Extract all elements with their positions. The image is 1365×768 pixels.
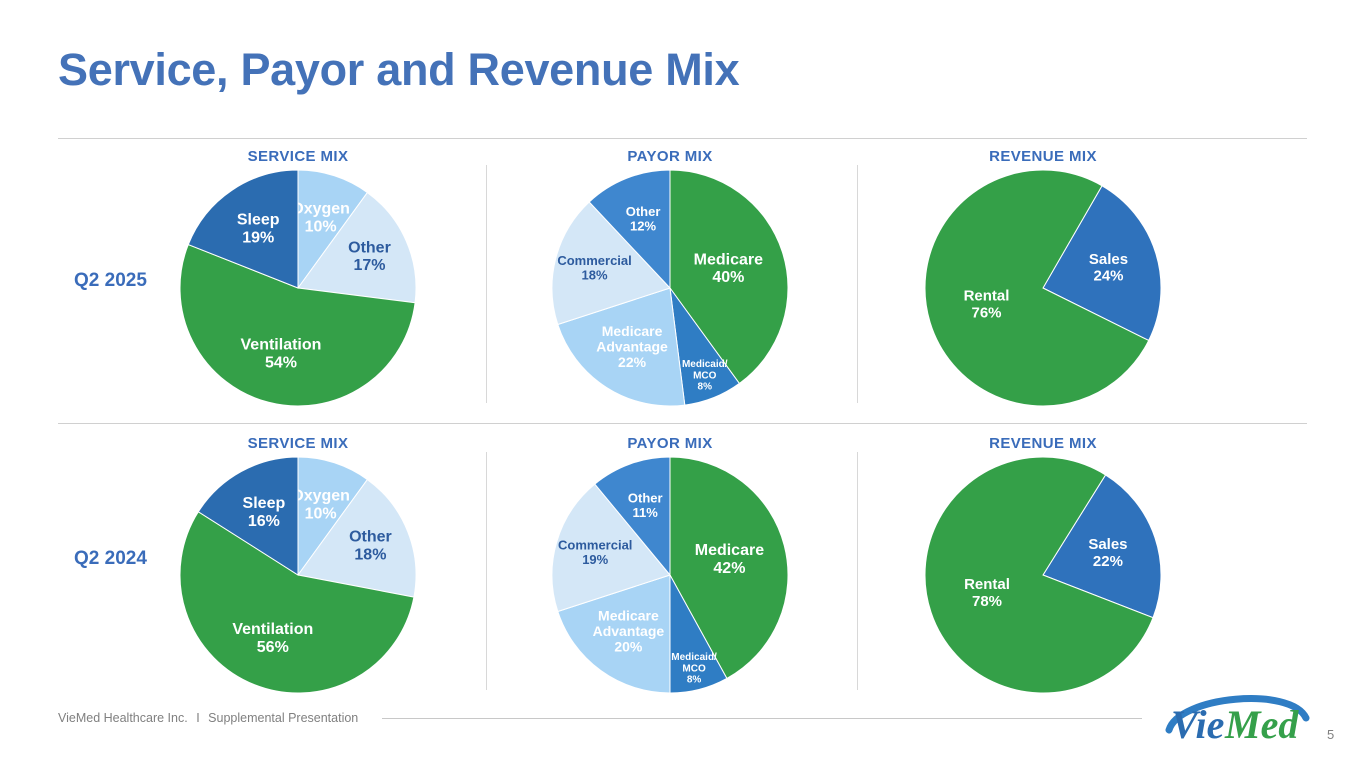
pie-chart-service-mix-q2-2024: Oxygen10%Other18%Ventilation56%Sleep16% [180, 457, 416, 693]
svg-text:Med: Med [1224, 702, 1299, 746]
column-divider-2 [486, 452, 487, 690]
svg-text:19%: 19% [582, 552, 608, 567]
pie-wrap-revenue-mix-q2-2025: Sales24%Rental76% [925, 170, 1161, 406]
svg-text:MCO: MCO [693, 370, 717, 381]
pie-label-sleep: Sleep19% [237, 212, 280, 247]
row-label-q2-2025: Q2 2025 [74, 270, 147, 292]
svg-text:10%: 10% [305, 219, 337, 236]
svg-text:Commercial: Commercial [557, 253, 631, 268]
svg-text:Rental: Rental [964, 576, 1010, 593]
page-title: Service, Payor and Revenue Mix [58, 44, 739, 96]
pie-label-other: Other17% [348, 239, 391, 274]
pie-wrap-service-mix-q2-2025: Oxygen10%Other17%Ventilation54%Sleep19% [180, 170, 416, 406]
svg-text:Medicare: Medicare [694, 251, 763, 268]
svg-text:Ventilation: Ventilation [232, 621, 313, 638]
divider-top [58, 138, 1307, 139]
pie-wrap-payor-mix-q2-2025: Medicare40%Medicaid/MCO8%MedicareAdvanta… [552, 170, 788, 406]
footer-separator: I [196, 711, 199, 725]
chart-title-revenue-mix-q2-2025: REVENUE MIX [913, 148, 1173, 165]
svg-text:22%: 22% [1093, 553, 1123, 570]
svg-text:8%: 8% [698, 382, 713, 393]
svg-text:40%: 40% [712, 269, 744, 286]
chart-title-service-mix-q2-2024: SERVICE MIX [168, 435, 428, 452]
svg-text:Other: Other [626, 204, 661, 219]
pie-label-other: Other18% [349, 529, 392, 564]
svg-text:Other: Other [349, 529, 392, 546]
pie-label-sales: Sales22% [1088, 536, 1127, 570]
pie-chart-revenue-mix-q2-2024: Sales22%Rental78% [925, 457, 1161, 693]
pie-label-other: Other11% [628, 490, 663, 520]
svg-text:Medicare: Medicare [598, 607, 659, 623]
svg-text:Advantage: Advantage [596, 338, 668, 354]
svg-text:8%: 8% [687, 675, 702, 686]
svg-text:Vie: Vie [1171, 702, 1224, 746]
svg-text:76%: 76% [972, 304, 1002, 321]
svg-text:Medicare: Medicare [602, 323, 663, 339]
svg-text:Advantage: Advantage [593, 623, 665, 639]
svg-text:42%: 42% [713, 560, 745, 577]
svg-text:19%: 19% [242, 230, 274, 247]
svg-text:Medicaid/: Medicaid/ [671, 652, 717, 663]
svg-text:Sleep: Sleep [243, 495, 286, 512]
svg-text:Sleep: Sleep [237, 212, 280, 229]
svg-text:Medicaid/: Medicaid/ [682, 359, 728, 370]
svg-text:78%: 78% [972, 593, 1002, 610]
svg-text:Sales: Sales [1088, 536, 1127, 553]
pie-label-sleep: Sleep16% [243, 495, 286, 530]
svg-text:Ventilation: Ventilation [241, 337, 322, 354]
footer: VieMed Healthcare Inc. I Supplemental Pr… [58, 711, 358, 725]
svg-text:56%: 56% [257, 639, 289, 656]
pie-chart-revenue-mix-q2-2025: Sales24%Rental76% [925, 170, 1161, 406]
svg-text:17%: 17% [353, 257, 385, 274]
pie-wrap-service-mix-q2-2024: Oxygen10%Other18%Ventilation56%Sleep16% [180, 457, 416, 693]
svg-text:54%: 54% [265, 354, 297, 371]
row-label-q2-2024: Q2 2024 [74, 548, 147, 570]
column-divider-0 [486, 165, 487, 403]
svg-text:Other: Other [348, 239, 391, 256]
svg-text:11%: 11% [633, 505, 659, 520]
pie-chart-service-mix-q2-2025: Oxygen10%Other17%Ventilation54%Sleep19% [180, 170, 416, 406]
pie-chart-payor-mix-q2-2024: Medicare42%Medicaid/MCO8%MedicareAdvanta… [552, 457, 788, 693]
svg-text:Oxygen: Oxygen [291, 201, 350, 218]
chart-cell-payor-mix-q2-2024: PAYOR MIXMedicare42%Medicaid/MCO8%Medica… [540, 435, 800, 697]
pie-chart-payor-mix-q2-2025: Medicare40%Medicaid/MCO8%MedicareAdvanta… [552, 170, 788, 406]
svg-text:Sales: Sales [1089, 251, 1128, 268]
column-divider-3 [857, 452, 858, 690]
svg-text:16%: 16% [248, 513, 280, 530]
svg-text:22%: 22% [618, 354, 647, 370]
chart-cell-service-mix-q2-2025: SERVICE MIXOxygen10%Other17%Ventilation5… [168, 148, 428, 410]
column-divider-1 [857, 165, 858, 403]
svg-text:Medicare: Medicare [695, 542, 764, 559]
divider-footer [382, 718, 1142, 719]
divider-middle [58, 423, 1307, 424]
viemed-logo: Vie Med [1163, 688, 1311, 746]
chart-cell-service-mix-q2-2024: SERVICE MIXOxygen10%Other18%Ventilation5… [168, 435, 428, 697]
svg-text:Oxygen: Oxygen [291, 488, 350, 505]
svg-text:Other: Other [628, 490, 663, 505]
pie-label-other: Other12% [626, 204, 661, 234]
viemed-logo-svg: Vie Med [1163, 688, 1311, 746]
chart-title-payor-mix-q2-2024: PAYOR MIX [540, 435, 800, 452]
chart-cell-revenue-mix-q2-2024: REVENUE MIXSales22%Rental78% [913, 435, 1173, 697]
pie-label-sales: Sales24% [1089, 251, 1128, 285]
svg-text:MCO: MCO [682, 663, 706, 674]
chart-cell-revenue-mix-q2-2025: REVENUE MIXSales24%Rental76% [913, 148, 1173, 410]
svg-text:10%: 10% [305, 506, 337, 523]
pie-wrap-payor-mix-q2-2024: Medicare42%Medicaid/MCO8%MedicareAdvanta… [552, 457, 788, 693]
slide-root: Service, Payor and Revenue Mix Q2 2025 Q… [0, 0, 1365, 768]
chart-title-revenue-mix-q2-2024: REVENUE MIX [913, 435, 1173, 452]
chart-title-payor-mix-q2-2025: PAYOR MIX [540, 148, 800, 165]
svg-text:12%: 12% [630, 219, 656, 234]
chart-title-service-mix-q2-2025: SERVICE MIX [168, 148, 428, 165]
svg-text:18%: 18% [582, 267, 608, 282]
pie-wrap-revenue-mix-q2-2024: Sales22%Rental78% [925, 457, 1161, 693]
svg-text:24%: 24% [1094, 268, 1124, 285]
svg-text:Rental: Rental [964, 288, 1010, 305]
footer-deck: Supplemental Presentation [208, 711, 358, 725]
chart-cell-payor-mix-q2-2025: PAYOR MIXMedicare40%Medicaid/MCO8%Medica… [540, 148, 800, 410]
footer-company: VieMed Healthcare Inc. [58, 711, 188, 725]
svg-text:20%: 20% [614, 639, 643, 655]
page-number: 5 [1327, 727, 1334, 742]
svg-text:18%: 18% [354, 547, 386, 564]
svg-text:Commercial: Commercial [558, 537, 632, 552]
